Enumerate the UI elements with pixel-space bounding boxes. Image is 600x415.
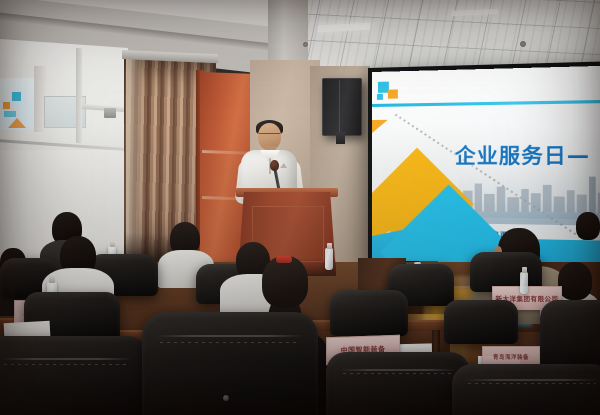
attendee-head: [262, 256, 308, 308]
chair-seam: [465, 379, 599, 381]
sprinkler-head-icon: [520, 41, 526, 47]
attendee-head: [576, 212, 600, 240]
poster-cyan-bar-icon: [4, 111, 16, 117]
hair-tie: [276, 256, 292, 263]
chair-stitching: [343, 373, 452, 374]
water-bottle[interactable]: [520, 272, 528, 294]
chair-seam: [156, 335, 304, 337]
name-card-text: 青岛海洋装备: [493, 353, 529, 361]
chair-stitching: [160, 342, 301, 343]
presenter-glasses-icon: [259, 133, 280, 139]
chair-stitching: [4, 364, 129, 365]
chair[interactable]: [142, 312, 318, 415]
speaker-seam: [339, 80, 340, 132]
bottle-cap: [49, 276, 55, 283]
projection-screen: 企业服务日— 青岛西海: [372, 66, 600, 267]
chair[interactable]: [444, 300, 518, 344]
microphone-icon: [270, 160, 279, 171]
wall-poster: [0, 78, 35, 130]
speaker-bracket: [336, 132, 345, 144]
curtain-highlight: [126, 55, 144, 261]
slide-orange-square-icon: [388, 89, 398, 98]
chair-seam: [340, 369, 455, 371]
chair[interactable]: [0, 336, 148, 415]
bottle-cap: [522, 267, 527, 273]
chair-stitching: [468, 383, 596, 384]
door-handle[interactable]: [104, 108, 116, 118]
conference-room-photo: 企业服务日— 青岛西海 058 051: [0, 0, 600, 415]
bottle-cap: [327, 243, 332, 249]
bottle-cap: [110, 241, 115, 247]
attendee-head: [558, 262, 592, 300]
slide-title: 企业服务日—: [455, 138, 590, 169]
poster-cyan-square-icon: [12, 92, 21, 101]
wall-speaker-icon: [322, 78, 362, 136]
chair[interactable]: [326, 352, 470, 415]
water-bottle[interactable]: [325, 248, 333, 270]
chair-knob[interactable]: [223, 395, 229, 401]
poster-orange-square-icon: [3, 102, 10, 109]
sprinkler-head-icon: [303, 42, 308, 47]
chair[interactable]: [330, 290, 408, 336]
poster-orange-triangle-icon: [8, 118, 26, 128]
chair[interactable]: [540, 300, 600, 370]
slide-orange-triangle-icon: [372, 120, 388, 133]
slide-cyan-rule: [372, 100, 600, 107]
chair[interactable]: [452, 364, 600, 415]
slide-cyan-square-small-icon: [377, 94, 383, 100]
window-mullion-vertical: [76, 48, 82, 143]
chair-seam: [0, 358, 131, 360]
